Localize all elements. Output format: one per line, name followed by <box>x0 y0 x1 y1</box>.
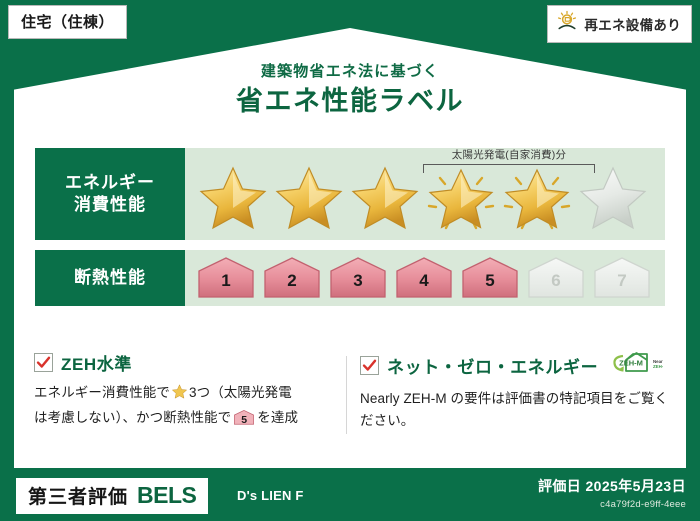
insulation-level-filled: 5 <box>459 256 521 300</box>
evaluation-date-label: 評価日 <box>538 478 581 494</box>
insulation-level-empty: 6 <box>525 256 587 300</box>
insulation-level-empty: 7 <box>591 256 653 300</box>
evaluation-date-value: 2025年5月23日 <box>585 478 686 494</box>
zeh-standard-title: ZEH水準 <box>61 350 132 375</box>
star-filled <box>195 162 271 234</box>
insulation-level-filled: 3 <box>327 256 389 300</box>
checkmark-icon <box>362 358 377 373</box>
energy-performance-label-card: 住宅（住棟） 再エネ設備あり 建築物省エネ法に基づく 省エネ性能ラベル <box>0 0 700 521</box>
net-zero-energy-header: ネット・ゼロ・エネルギー ZEH-M Nearly ZEH-M <box>360 350 676 381</box>
evaluation-id: c4a79f2d-e9ff-4eee <box>538 499 686 510</box>
renewable-equipment-chip: 再エネ設備あり <box>547 5 692 43</box>
zeh-standard-checkbox <box>34 353 53 372</box>
title-subtitle: 建築物省エネ法に基づく <box>0 63 700 81</box>
insulation-level-filled: 4 <box>393 256 455 300</box>
zeh-desc-part3: を達成 <box>257 410 298 425</box>
insulation-level-scale: 1 2 3 <box>195 256 653 300</box>
zeh-standard-block: ZEH水準 エネルギー消費性能で3つ（太陽光発電は考慮しない）、かつ断熱性能で5… <box>0 350 350 434</box>
solar-sun-icon <box>556 10 578 37</box>
star-filled <box>271 162 347 234</box>
performance-rows: エネルギー 消費性能 太陽光発電(自家消費)分 <box>35 148 665 316</box>
insulation-row-value: 1 2 3 <box>185 250 665 306</box>
house-type-chip: 住宅（住棟） <box>8 5 127 39</box>
footer-evaluation-info: 評価日 2025年5月23日 c4a79f2d-e9ff-4eee <box>538 476 686 510</box>
insulation-row-label: 断熱性能 <box>35 250 185 306</box>
project-name: D's LIEN F <box>237 488 304 503</box>
zeh-criteria-section: ZEH水準 エネルギー消費性能で3つ（太陽光発電は考慮しない）、かつ断熱性能で5… <box>0 350 700 434</box>
bels-logo-text: BELS <box>137 482 196 509</box>
net-zero-energy-block: ネット・ゼロ・エネルギー ZEH-M Nearly ZEH-M Nearly Z… <box>350 350 690 434</box>
star-filled <box>347 162 423 234</box>
energy-star-rating <box>195 162 651 234</box>
bels-jp-label: 第三者評価 <box>28 482 128 509</box>
solar-annotation-label: 太陽光発電(自家消費)分 <box>423 150 595 162</box>
net-zero-energy-checkbox <box>360 356 379 375</box>
net-zero-energy-description: Nearly ZEH-M の要件は評価書の特記項目をご覧ください。 <box>360 388 676 433</box>
page-title: 省エネ性能ラベル <box>0 86 700 117</box>
insulation-performance-row: 断熱性能 <box>35 250 665 306</box>
renewable-chip-label: 再エネ設備あり <box>584 14 681 34</box>
star-empty <box>575 162 651 234</box>
checkmark-icon <box>36 355 51 370</box>
energy-performance-row: エネルギー 消費性能 太陽光発電(自家消費)分 <box>35 148 665 240</box>
zeh-desc-part1: エネルギー消費性能で <box>34 385 170 400</box>
bels-certification-badge: 第三者評価 BELS <box>16 478 208 514</box>
svg-text:ZEH-M: ZEH-M <box>653 364 663 369</box>
insulation-level-filled: 1 <box>195 256 257 300</box>
zeh-m-logo-icon: ZEH-M Nearly ZEH-M <box>609 350 663 381</box>
insulation-level-filled: 2 <box>261 256 323 300</box>
energy-row-value: 太陽光発電(自家消費)分 <box>185 148 665 240</box>
star-filled-sparkle <box>499 162 575 234</box>
insulation-badge-inline: 5 <box>233 409 255 433</box>
zeh-desc-part2: は考慮しない）、かつ断熱性能で <box>34 410 231 425</box>
zeh-standard-description: エネルギー消費性能で3つ（太陽光発電は考慮しない）、かつ断熱性能で5を達成 <box>34 382 336 434</box>
zeh-desc-star-count: 3つ（太陽光発電 <box>189 385 292 400</box>
star-icon-inline <box>171 388 188 403</box>
energy-row-label: エネルギー 消費性能 <box>35 148 185 240</box>
energy-label-line2: 消費性能 <box>74 194 146 216</box>
net-zero-energy-title: ネット・ゼロ・エネルギー <box>387 353 598 378</box>
evaluation-date: 評価日 2025年5月23日 <box>538 476 686 496</box>
zeh-standard-header: ZEH水準 <box>34 350 336 375</box>
insulation-badge-number: 5 <box>233 412 255 429</box>
label-title-block: 建築物省エネ法に基づく 省エネ性能ラベル <box>0 63 700 117</box>
star-filled-sparkle <box>423 162 499 234</box>
svg-text:ZEH-M: ZEH-M <box>619 359 643 368</box>
label-footer: 第三者評価 BELS D's LIEN F 評価日 2025年5月23日 c4a… <box>0 468 700 521</box>
energy-label-line1: エネルギー <box>65 172 155 194</box>
